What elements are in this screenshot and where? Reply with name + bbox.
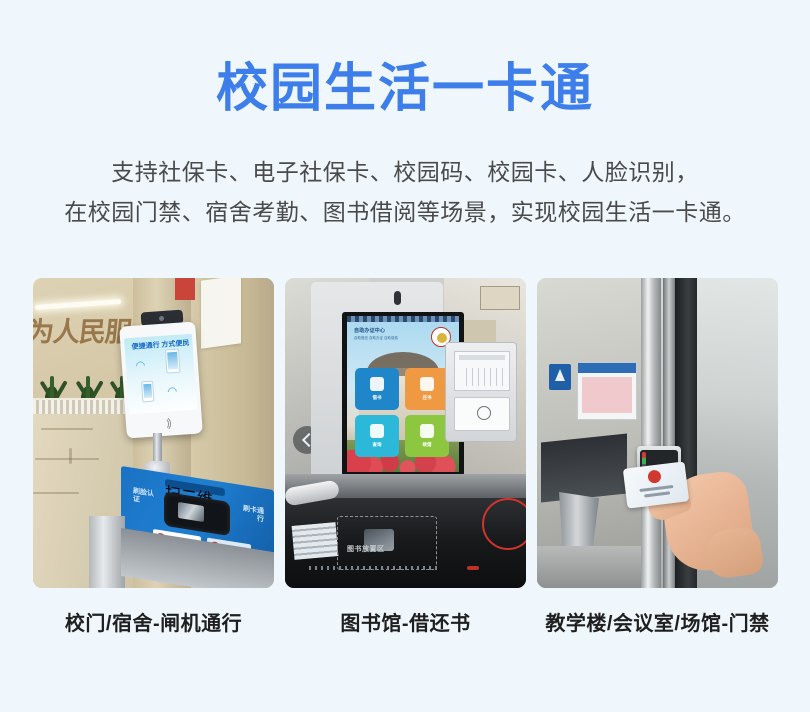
instruction-sheet (454, 351, 510, 391)
stacked-books (292, 522, 339, 560)
scenario-card-list: 为人民服务 便捷通行 方式便民 (33, 278, 778, 638)
campus-card[interactable] (623, 461, 689, 508)
card-caption: 图书馆-借还书 (340, 607, 470, 636)
terminal-screen-text: 便捷通行 方式便民 (131, 340, 189, 352)
page-subtitle: 支持社保卡、电子社保卡、校园码、校园卡、人脸识别， 在校园门禁、宿舍考勤、图书借… (0, 152, 810, 232)
turnstile-side-column (89, 516, 125, 588)
return-icon (420, 377, 434, 391)
door-frame-left (641, 278, 661, 588)
red-highlight-circle (482, 498, 526, 550)
book-icon (370, 377, 384, 391)
library-self-service-kiosk-photo: 自助办证中心 自助借还 自助办证 自助缴费 借书 (285, 278, 526, 588)
campus-gate-turnstile-photo: 为人民服务 便捷通行 方式便民 (33, 278, 274, 588)
planter-rail (33, 398, 137, 414)
wall-sign (480, 286, 520, 310)
nfc-wave-icon (154, 416, 175, 431)
card-caption: 教学楼/会议室/场馆-门禁 (545, 607, 769, 636)
tile-label: 查询 (355, 442, 399, 448)
gate-card-label: 刷卡通行 (240, 505, 264, 539)
card-reader-pad[interactable] (454, 397, 510, 431)
poster-page: 校园生活一卡通 支持社保卡、电子社保卡、校园码、校园卡、人脸识别， 在校园门禁、… (0, 0, 810, 712)
tile-label: 还书 (405, 395, 449, 401)
reception-counter (541, 433, 627, 502)
tile-label: 借书 (355, 395, 399, 401)
wall-poster (577, 362, 637, 420)
screen-top-decor (347, 316, 459, 322)
kiosk-tile-search[interactable]: 查询 (355, 415, 399, 457)
scan-zone-label: 图书放置区 (347, 544, 385, 554)
wall-notice-paper (201, 278, 241, 349)
red-banner-fragment (175, 278, 195, 300)
card-emblem-icon (647, 469, 661, 483)
kiosk-touch-screen[interactable]: 自助办证中心 自助借还 自助办证 自助缴费 借书 (347, 316, 459, 472)
gate-face-label: 刷脸认证 (133, 488, 157, 522)
page-title: 校园生活一卡通 (0, 58, 810, 120)
card-caption: 校门/宿舍-闸机通行 (65, 607, 242, 636)
card-text-line (644, 491, 670, 497)
search-icon (370, 424, 384, 438)
subtitle-line-2: 在校园门禁、宿舍考勤、图书借阅等场景，实现校园生活一卡通。 (0, 192, 810, 232)
book-scan-zone[interactable] (337, 516, 437, 570)
screen-subtitle: 自助借还 自助办证 自助缴费 (354, 336, 398, 341)
terminal-screen: 便捷通行 方式便民 (124, 334, 197, 415)
kiosk-tile-return[interactable]: 还书 (405, 368, 449, 410)
building-door-access-control-photo (537, 278, 778, 588)
lobby-floor (537, 546, 647, 588)
qr-scanner-window[interactable] (164, 492, 230, 536)
face-recognition-terminal[interactable]: 便捷通行 方式便民 (119, 321, 203, 438)
kiosk-tile-renew[interactable]: 续借 (405, 415, 449, 457)
kiosk-camera-icon (394, 291, 401, 305)
desk-dot-strip (309, 566, 439, 570)
kiosk-side-instruction-panel (445, 342, 517, 442)
tile-label: 续借 (405, 442, 449, 448)
kiosk-head-housing: 自助办证中心 自助借还 自助办证 自助缴费 借书 (311, 282, 443, 478)
directional-sign-icon (549, 364, 571, 390)
status-led-icon (467, 566, 479, 570)
screen-title: 自助办证中心 (354, 328, 385, 335)
subtitle-line-1: 支持社保卡、电子社保卡、校园码、校园卡、人脸识别， (0, 152, 810, 192)
scenario-card[interactable]: 为人民服务 便捷通行 方式便民 (33, 278, 274, 638)
kiosk-tile-borrow[interactable]: 借书 (355, 368, 399, 410)
scenario-card[interactable]: 自助办证中心 自助借还 自助办证 自助缴费 借书 (285, 278, 526, 638)
renew-icon (420, 424, 434, 438)
scenario-card[interactable]: 教学楼/会议室/场馆-门禁 (537, 278, 778, 638)
